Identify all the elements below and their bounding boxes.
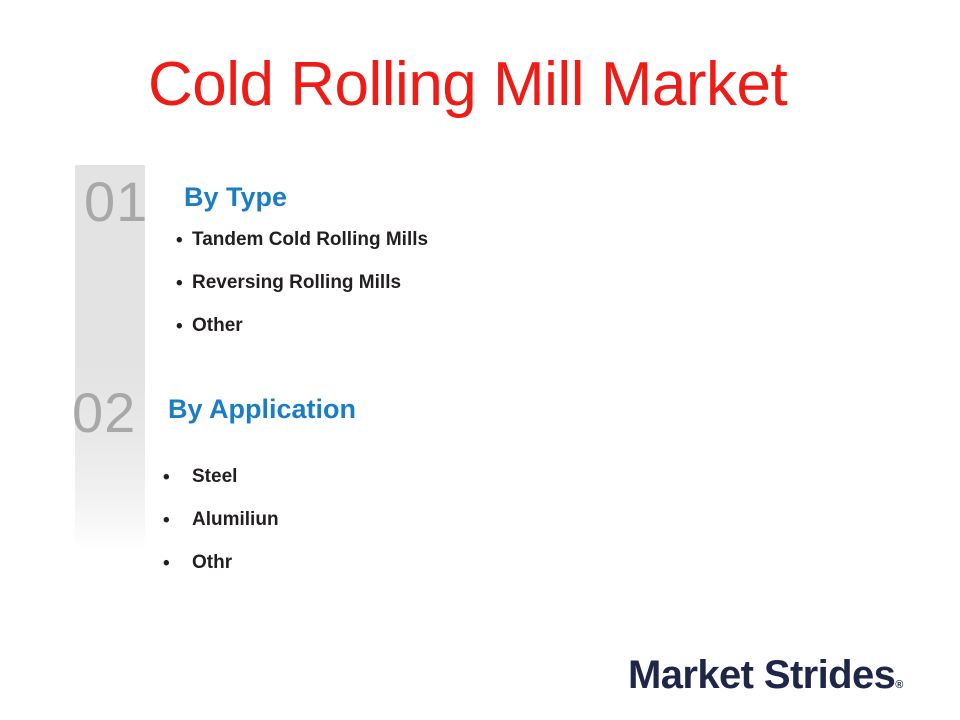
list-item: • Reversing Rolling Mills xyxy=(176,273,428,316)
list-item: • Steel xyxy=(163,467,279,510)
list-item: • Othr xyxy=(163,553,279,596)
list-item: • Alumiliun xyxy=(163,510,279,553)
brand-logo-text: Market Strides xyxy=(628,653,895,697)
list-item-label: Reversing Rolling Mills xyxy=(192,272,401,293)
brand-logo: Market Strides® xyxy=(628,655,903,695)
section-heading-by-type: By Type xyxy=(184,184,287,211)
list-item-label: Othr xyxy=(192,552,232,573)
bullet-dot-icon: • xyxy=(176,274,183,293)
list-item-label: Other xyxy=(192,315,243,336)
bullet-list-by-application: • Steel • Alumiliun • Othr xyxy=(163,467,279,596)
bullet-dot-icon: • xyxy=(163,468,170,487)
bullet-dot-icon: • xyxy=(163,511,170,530)
bullet-dot-icon: • xyxy=(163,554,170,573)
section-number-02: 02 xyxy=(72,385,136,441)
list-item: • Tandem Cold Rolling Mills xyxy=(176,230,428,273)
list-item-label: Alumiliun xyxy=(192,509,279,530)
section-heading-by-application: By Application xyxy=(168,396,356,423)
list-item-label: Tandem Cold Rolling Mills xyxy=(192,229,428,250)
bullet-dot-icon: • xyxy=(176,231,183,250)
page-title: Cold Rolling Mill Market xyxy=(148,54,848,116)
bullet-dot-icon: • xyxy=(176,317,183,336)
registered-trademark-icon: ® xyxy=(895,679,903,691)
list-item: • Other xyxy=(176,316,428,359)
section-number-01: 01 xyxy=(84,174,148,230)
list-item-label: Steel xyxy=(192,466,237,487)
bullet-list-by-type: • Tandem Cold Rolling Mills • Reversing … xyxy=(176,230,428,359)
slide-canvas: Cold Rolling Mill Market 01 By Type • Ta… xyxy=(0,0,960,720)
